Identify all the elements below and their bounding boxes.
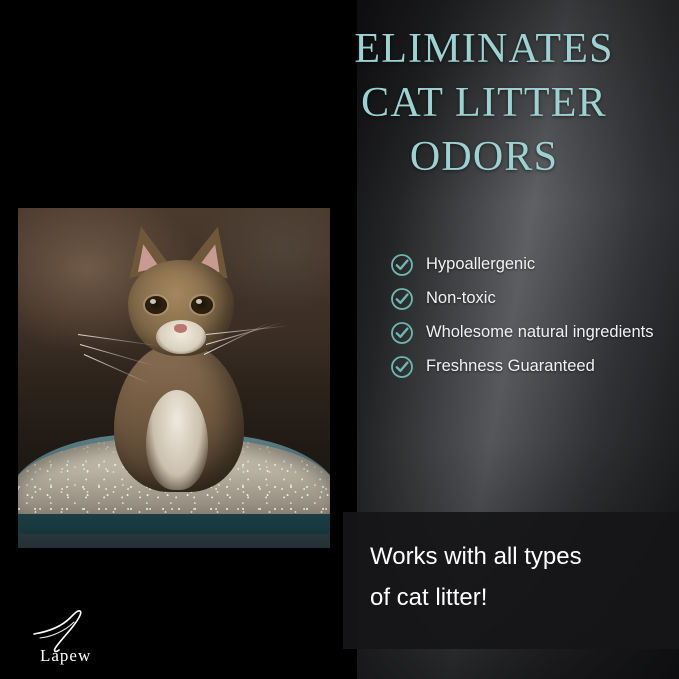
brand-wordmark: Lapew xyxy=(40,646,91,666)
feature-label: Hypoallergenic xyxy=(426,252,535,276)
feature-label: Freshness Guaranteed xyxy=(426,354,595,378)
list-item: Non-toxic xyxy=(390,286,672,311)
headline-line-1: ELIMINATES xyxy=(300,22,668,76)
bottom-banner-text: Works with all types of cat litter! xyxy=(370,536,670,618)
list-item: Wholesome natural ingredients xyxy=(390,320,672,345)
product-infographic: ELIMINATES CAT LITTER ODORS xyxy=(0,0,679,679)
kitten-nose xyxy=(174,324,187,333)
feature-label: Non-toxic xyxy=(426,286,496,310)
headline-line-3: ODORS xyxy=(300,130,668,184)
check-circle-icon xyxy=(390,253,414,277)
banner-line-1: Works with all types xyxy=(370,536,670,577)
check-circle-icon xyxy=(390,355,414,379)
feature-list: Hypoallergenic Non-toxic Wholesome natur… xyxy=(390,252,672,388)
eye-glint-left xyxy=(150,299,156,304)
banner-line-2: of cat litter! xyxy=(370,577,670,618)
kitten-in-litter-box-photo xyxy=(18,208,330,548)
check-circle-icon xyxy=(390,287,414,311)
brand-logo: Lapew xyxy=(30,608,160,664)
feature-label: Wholesome natural ingredients xyxy=(426,320,653,344)
check-circle-icon xyxy=(390,321,414,345)
kitten-eye-left xyxy=(145,296,167,314)
list-item: Freshness Guaranteed xyxy=(390,354,672,379)
page-title: ELIMINATES CAT LITTER ODORS xyxy=(300,22,668,184)
kitten-eye-right xyxy=(191,296,213,314)
headline-line-2: CAT LITTER xyxy=(300,76,668,130)
list-item: Hypoallergenic xyxy=(390,252,672,277)
eye-glint-right xyxy=(196,299,202,304)
kitten-chest xyxy=(146,390,208,490)
